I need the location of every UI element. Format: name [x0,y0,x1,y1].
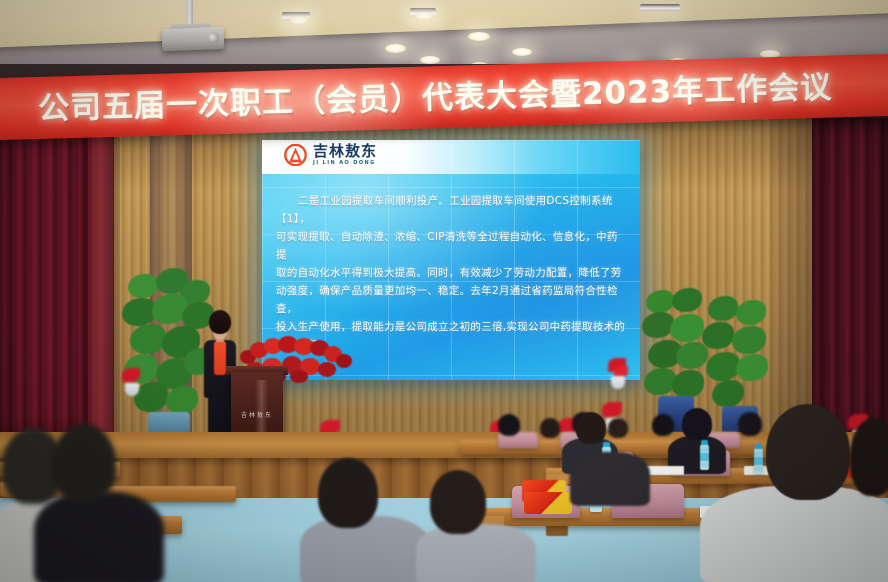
audience-head [540,418,560,438]
flower [318,362,336,377]
flower-pot [125,383,139,396]
bottle-cap [701,440,708,445]
red-gift-packet-2 [524,492,572,514]
foreground-head-5 [766,404,850,500]
plant-leaf [642,312,674,338]
ceiling-downlight-5 [468,32,490,41]
plant-leaf [672,288,702,312]
ceiling-downlight-4 [420,56,440,64]
foreground-head-6 [850,418,888,496]
poinsettia-bloom [602,402,622,417]
foreground-head-3 [318,458,378,528]
ceiling-downlight-6 [512,48,532,56]
stage-curtain-left [0,118,92,438]
stage-curtain-left-fold [88,118,114,438]
plant-leaf [702,322,734,349]
foreground-person-torso-4 [416,524,536,582]
bottle-label [754,457,763,465]
plant-leaf [732,326,766,354]
plant-leaf [122,298,156,326]
plant-leaf [706,352,740,381]
projector-lens [208,32,219,43]
ceiling-downlight-1 [288,16,310,25]
audience-head [652,414,674,436]
plant-leaf [646,290,674,313]
flower [336,354,352,368]
audience-head [682,408,712,440]
plant-leaf [708,296,738,321]
plant-leaf [130,324,166,354]
plant-leaf [736,300,766,325]
plant-leaf [736,354,768,381]
ceiling-downlight-2 [414,12,434,20]
flower-pot [611,376,625,389]
audience-head [498,414,520,436]
plant-leaf [166,386,198,414]
foreground-person-torso-3 [300,516,430,582]
flower [290,370,308,383]
ceiling-projector [162,27,225,51]
plant-leaf [712,380,744,407]
audience-head [738,412,762,436]
podium-label: 吉林敖东 [231,410,283,419]
bottle-cap [603,442,610,447]
plant-leaf [644,368,676,395]
bottle-cap [755,444,762,449]
audience-head [608,418,628,438]
water-bottle [754,448,763,474]
foreground-head-2 [52,424,116,502]
presenter-hair [209,310,231,334]
water-bottle [700,444,709,470]
stage-curtain-right [812,118,888,438]
audience-head [576,412,606,444]
ceiling-strip-light-3 [640,4,680,11]
poinsettia-bloom [122,368,140,382]
presenter-blouse [214,341,226,375]
conference-hall-photo: 吉林敖东 JI LIN AO DONG 二是工业园提取车间顺利投产。工业园提取车… [0,0,888,582]
poinsettia-1 [606,358,630,390]
foreground-head-4 [430,470,486,534]
plant-leaf [670,314,704,342]
audience-person-torso-right [570,452,650,506]
foreground-person-torso-5 [700,486,888,582]
bottle-label [700,453,709,461]
plant-leaf [128,274,158,298]
foreground-person-torso-2 [34,492,164,582]
poinsettia-6 [120,368,144,398]
ceiling-downlight-3 [385,44,406,53]
